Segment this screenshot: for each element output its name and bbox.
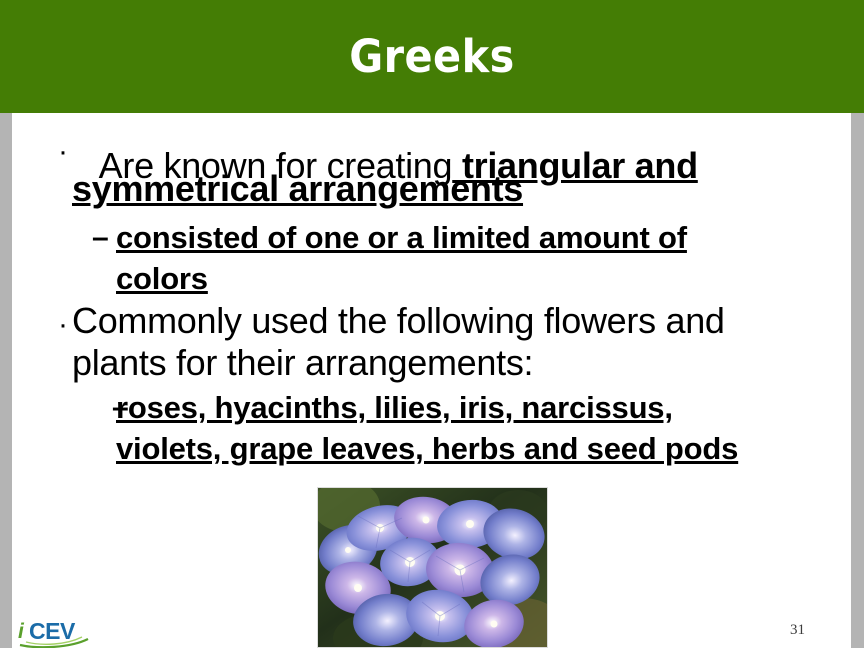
hydrangea-photo-graphic [318,488,548,648]
page-number: 31 [790,622,805,639]
icev-logo-cev: CEV [29,618,76,644]
sub-bullet-2-line-2: violets, grape leaves, herbs and seed po… [116,432,738,466]
bullet-marker-2: · [58,306,68,344]
icev-logo-graphic: i CEV [18,618,110,648]
bullet-2-line-1: Commonly used the following flowers and [72,302,725,340]
page-title: Greeks [349,34,514,79]
sub-bullet-1-line-1: consisted of one or a limited amount of [116,221,687,255]
icev-logo: i CEV [18,618,110,648]
bullet-marker-1: · [58,133,68,171]
sub-bullet-2-line-1: roses, hyacinths, lilies, iris, narcissu… [116,391,673,425]
sub-bullet-1-line-2: colors [116,262,208,296]
icev-logo-i: i [18,620,25,643]
bullet-1-line-2: symmetrical arrangements [72,170,523,208]
left-frame-strip [0,113,12,648]
right-frame-strip [851,113,864,648]
sub-bullet-marker-1: – [92,221,109,255]
hydrangea-photo [317,487,548,648]
bullet-2-line-2: plants for their arrangements: [72,344,533,382]
slide: Greeks · Are known for creating triangul… [0,0,864,648]
title-banner: Greeks [0,0,864,113]
